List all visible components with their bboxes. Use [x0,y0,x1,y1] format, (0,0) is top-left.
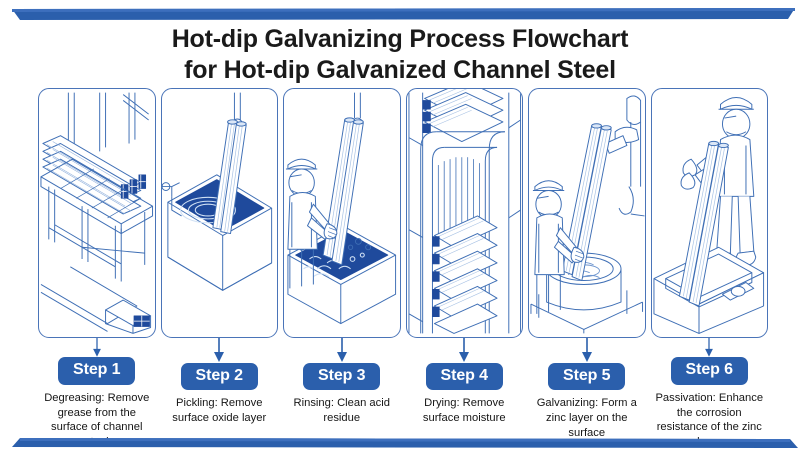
degreasing-illustration [39,89,155,337]
down-arrow-icon-2 [212,338,226,363]
panel-step-6 [651,88,769,338]
page-title: Hot-dip Galvanizing Process Flowchart fo… [0,24,800,86]
down-arrow-icon-3 [335,338,349,363]
panel-step-1 [38,88,156,338]
step-column-2: Step 2 Pickling: Remove surface oxide la… [161,338,279,450]
pickling-illustration [162,89,278,337]
step-badge-6[interactable]: Step 6 [671,357,748,384]
step-badge-5[interactable]: Step 5 [548,363,625,390]
galvanizing-illustration [529,89,645,337]
panel-step-4 [406,88,524,338]
title-line-1: Hot-dip Galvanizing Process Flowchart [0,24,800,55]
step-caption-3: Rinsing: Clean acid residue [283,396,401,426]
illustration-panels [38,88,768,338]
step-caption-5: Galvanizing: Form a zinc layer on the su… [528,396,646,440]
step-column-6: Step 6 Passivation: Enhance the corrosio… [651,338,769,450]
panel-step-2 [161,88,279,338]
title-line-2: for Hot-dip Galvanized Channel Steel [0,55,800,86]
drying-illustration [407,89,523,337]
step-column-1: Step 1 Degreasing: Remove grease from th… [38,338,156,450]
panel-step-5 [528,88,646,338]
step-caption-4: Drying: Remove surface moisture [406,396,524,426]
step-column-4: Step 4 Drying: Remove surface moisture [406,338,524,450]
step-list: Step 1 Degreasing: Remove grease from th… [38,338,768,450]
passivation-illustration [652,89,768,337]
down-arrow-icon-1 [90,338,104,357]
rinsing-illustration [284,89,400,337]
step-badge-1[interactable]: Step 1 [58,357,135,384]
step-badge-3[interactable]: Step 3 [303,363,380,390]
step-badge-4[interactable]: Step 4 [426,363,503,390]
bottom-accent-bar [0,437,800,449]
down-arrow-icon-5 [580,338,594,363]
step-column-5: Step 5 Galvanizing: Form a zinc layer on… [528,338,646,450]
panel-step-3 [283,88,401,338]
down-arrow-icon-4 [457,338,471,363]
top-accent-bar [0,8,800,20]
step-column-3: Step 3 Rinsing: Clean acid residue [283,338,401,450]
step-caption-2: Pickling: Remove surface oxide layer [161,396,279,426]
flowchart-page: Hot-dip Galvanizing Process Flowchart fo… [0,0,800,465]
down-arrow-icon-6 [702,338,716,357]
step-badge-2[interactable]: Step 2 [181,363,258,390]
